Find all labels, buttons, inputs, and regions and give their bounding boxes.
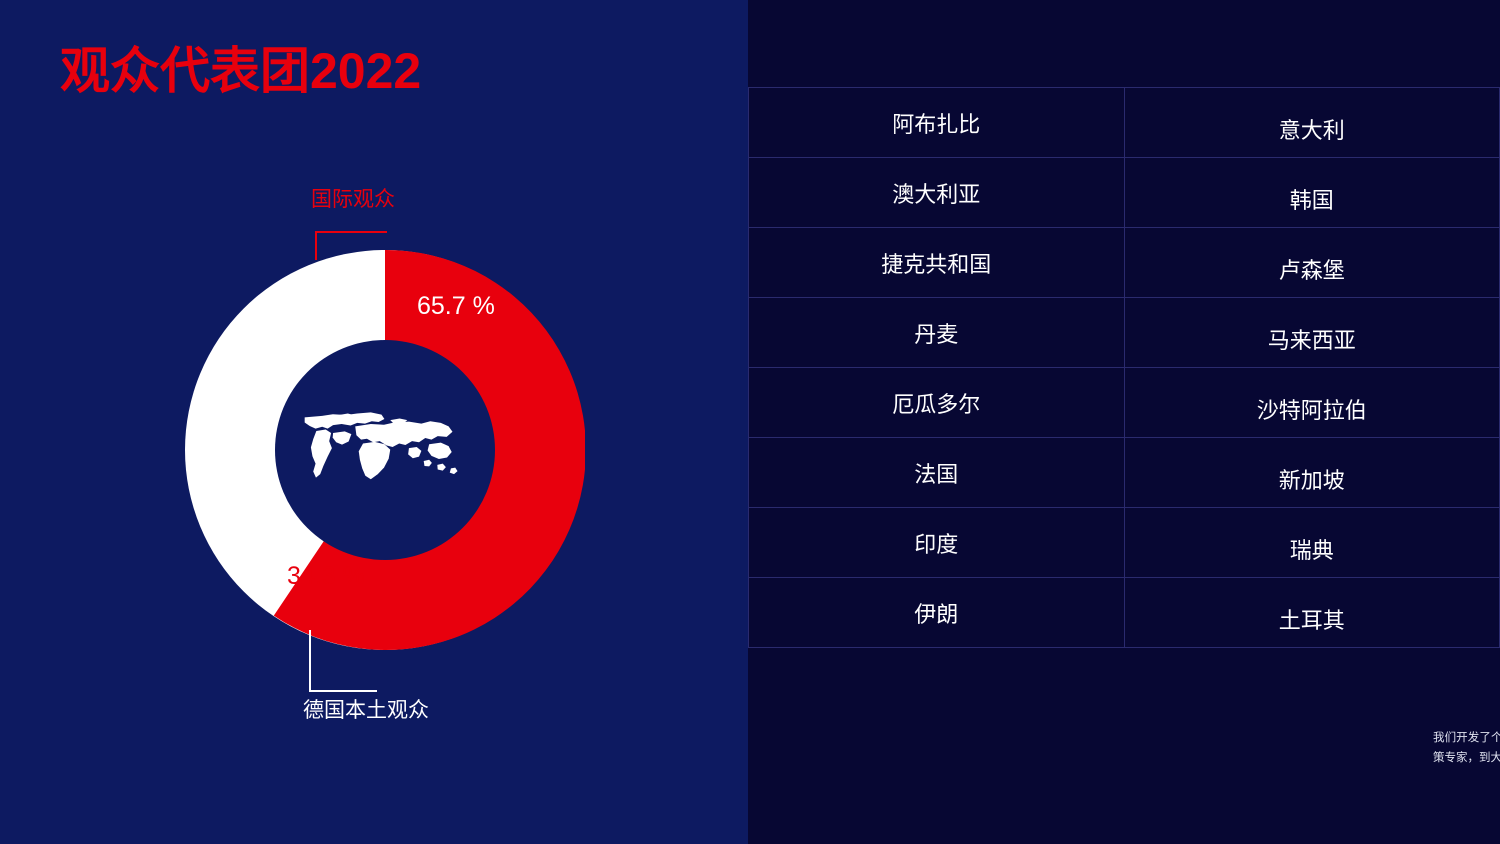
donut-label-domestic: 德国本土观众 bbox=[303, 694, 429, 724]
page-title: 观众代表团2022 bbox=[60, 44, 421, 99]
table-row: 捷克共和国卢森堡 bbox=[749, 228, 1500, 298]
table-row: 丹麦马来西亚 bbox=[749, 298, 1500, 368]
table-row: 伊朗土耳其 bbox=[749, 578, 1500, 648]
country-table-body: 阿布扎比意大利澳大利亚韩国捷克共和国卢森堡丹麦马来西亚厄瓜多尔沙特阿拉伯法国新加… bbox=[749, 88, 1500, 648]
country-cell-right: 马来西亚 bbox=[1124, 304, 1500, 374]
table-row: 澳大利亚韩国 bbox=[749, 158, 1500, 228]
right-panel: 阿布扎比意大利澳大利亚韩国捷克共和国卢森堡丹麦马来西亚厄瓜多尔沙特阿拉伯法国新加… bbox=[748, 0, 1500, 844]
country-cell-right: 意大利 bbox=[1124, 94, 1500, 164]
country-cell-right: 韩国 bbox=[1124, 164, 1500, 234]
country-cell-right: 瑞典 bbox=[1124, 514, 1500, 584]
donut-value-domestic: 34.3 % bbox=[287, 562, 365, 591]
table-row: 厄瓜多尔沙特阿拉伯 bbox=[749, 368, 1500, 438]
leader-line-domestic-vertical bbox=[309, 630, 311, 692]
country-cell-right: 新加坡 bbox=[1124, 444, 1500, 514]
country-cell-left: 印度 bbox=[749, 508, 1125, 578]
country-table: 阿布扎比意大利澳大利亚韩国捷克共和国卢森堡丹麦马来西亚厄瓜多尔沙特阿拉伯法国新加… bbox=[748, 87, 1500, 648]
table-row: 印度瑞典 bbox=[749, 508, 1500, 578]
table-row: 阿布扎比意大利 bbox=[749, 88, 1500, 158]
country-cell-right: 土耳其 bbox=[1124, 584, 1500, 654]
country-cell-left: 捷克共和国 bbox=[749, 228, 1125, 298]
table-row: 法国新加坡 bbox=[749, 438, 1500, 508]
country-cell-left: 澳大利亚 bbox=[749, 158, 1125, 228]
country-cell-left: 阿布扎比 bbox=[749, 88, 1125, 158]
country-cell-left: 伊朗 bbox=[749, 578, 1125, 648]
country-cell-left: 法国 bbox=[749, 438, 1125, 508]
country-cell-right: 沙特阿拉伯 bbox=[1124, 374, 1500, 444]
donut-label-international: 国际观众 bbox=[311, 183, 395, 213]
footnote-text: 我们开发了个性化定制方案，以满足有100多名成员代表团的要求。这些代表团的高质量… bbox=[1433, 728, 1500, 768]
donut-value-international: 65.7 % bbox=[417, 292, 495, 321]
country-cell-left: 丹麦 bbox=[749, 298, 1125, 368]
donut-chart bbox=[185, 250, 585, 650]
left-panel: 观众代表团2022 bbox=[0, 0, 748, 844]
leader-line-international-horizontal bbox=[315, 231, 387, 233]
leader-line-international-vertical bbox=[315, 232, 317, 260]
slide-root: 观众代表团2022 bbox=[0, 0, 1500, 844]
country-cell-right: 卢森堡 bbox=[1124, 234, 1500, 304]
country-cell-left: 厄瓜多尔 bbox=[749, 368, 1125, 438]
donut-chart-svg bbox=[185, 250, 585, 650]
leader-line-domestic-horizontal bbox=[309, 690, 377, 692]
